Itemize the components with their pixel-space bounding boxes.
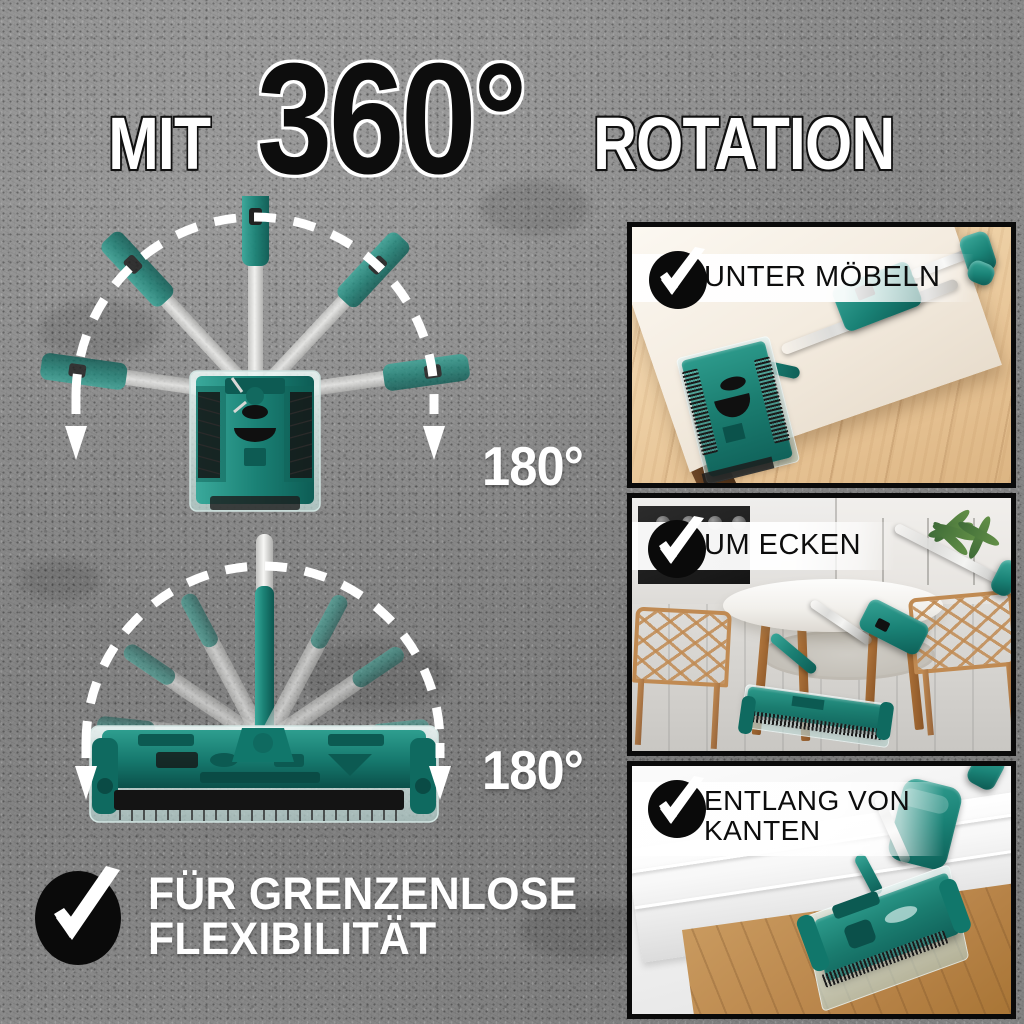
feature-panel-entlang-von-kanten[interactable]: ENTLANG VON KANTEN: [627, 761, 1016, 1019]
angle-label-top: 180°: [482, 434, 583, 498]
caption-line-2: FLEXIBILITÄT: [148, 916, 577, 961]
headline-360-degrees: 360°: [257, 55, 524, 185]
handle-ghost-arms: [96, 534, 430, 753]
rotation-diagram-top-down: [20, 196, 490, 526]
infographic-canvas: MIT 360° ROTATION: [0, 0, 1024, 1024]
headline-word-mit: MIT: [108, 110, 210, 178]
check-circle-icon: [646, 776, 708, 838]
panel-label-0: UNTER MÖBELN: [704, 262, 940, 293]
headline: MIT 360° ROTATION: [0, 28, 1024, 178]
feature-panel-unter-moebeln[interactable]: UNTER MÖBELN: [627, 222, 1016, 488]
panel-label-1: UM ECKEN: [704, 530, 861, 561]
headline-word-rotation: ROTATION: [593, 110, 894, 178]
rattan-chair-left: [632, 607, 732, 688]
check-circle-icon: [647, 247, 709, 309]
front-tilt-rotation-svg: [28, 528, 498, 828]
sweeper-head-top-down: [190, 371, 320, 511]
check-circle-icon: [34, 866, 126, 966]
flexibility-caption: FÜR GRENZENLOSE FLEXIBILITÄT: [34, 858, 614, 973]
top-down-rotation-svg: [20, 196, 490, 526]
rotation-diagram-front-tilt: [28, 528, 498, 828]
panel-label-2: ENTLANG VON KANTEN: [704, 786, 910, 846]
sweeper-head-front-view: [90, 726, 438, 822]
caption-line-1: FÜR GRENZENLOSE: [148, 871, 577, 916]
caption-text-block: FÜR GRENZENLOSE FLEXIBILITÄT: [148, 871, 577, 961]
feature-panel-um-ecken[interactable]: UM ECKEN: [627, 493, 1016, 756]
angle-label-bottom: 180°: [482, 738, 583, 802]
check-circle-icon: [646, 516, 708, 578]
